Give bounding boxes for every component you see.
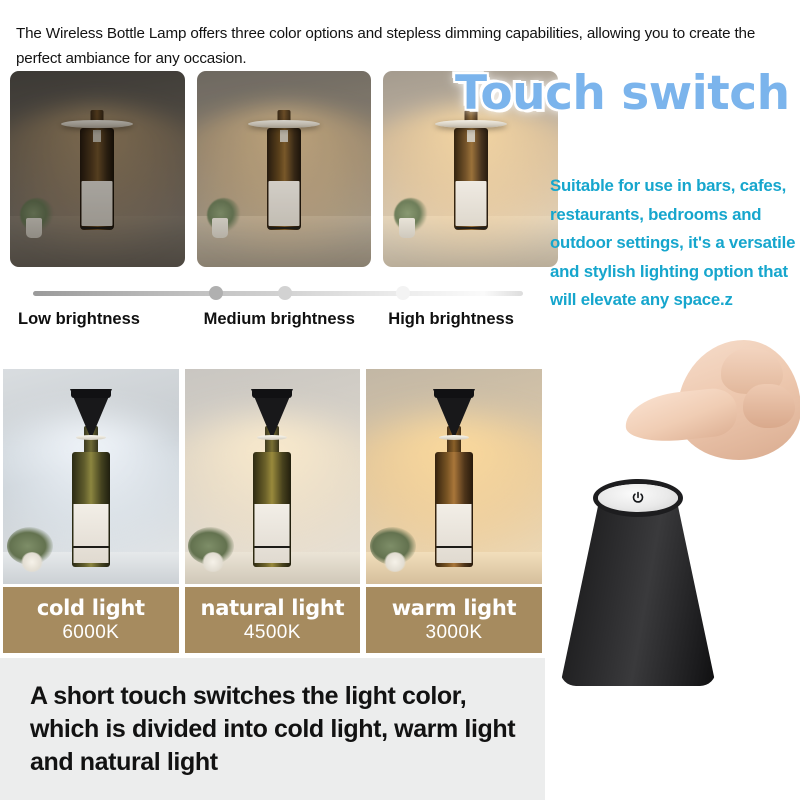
color-temperature-name: cold light xyxy=(37,596,145,621)
ct-bottle-label-stripe xyxy=(255,546,290,548)
ct-bottle-label-stripe xyxy=(73,546,108,548)
ct-scene-natural xyxy=(185,369,361,587)
brightness-slider-dot-high[interactable] xyxy=(396,286,410,300)
lamp-disc xyxy=(248,120,320,128)
scene-vase xyxy=(26,218,42,238)
brightness-slider-dot-medium[interactable] xyxy=(278,286,292,300)
brightness-photo-medium xyxy=(197,71,372,267)
ct-bottle-label xyxy=(255,504,290,563)
bottom-note-block: A short touch switches the light color, … xyxy=(0,658,545,800)
brightness-label-high: High brightness xyxy=(388,310,538,329)
color-temperature-photo-cold xyxy=(0,366,182,590)
hand-knuckle-lower xyxy=(743,384,795,428)
lamp-scene-medium xyxy=(197,71,372,267)
color-temperature-kelvin: 3000K xyxy=(426,621,483,645)
lamp-stem xyxy=(93,130,101,142)
lamp-shade-rim xyxy=(434,389,474,398)
color-temperature-caption-warm: warm light 3000K xyxy=(363,584,545,656)
color-temperature-caption-row: cold light 6000K natural light 4500K war… xyxy=(0,584,545,656)
lamp-shade-lip xyxy=(257,435,287,440)
lamp-base[interactable] xyxy=(560,480,716,686)
color-temperature-photo-natural xyxy=(182,366,364,590)
bottle-label xyxy=(82,181,113,226)
lamp-scene-low xyxy=(10,71,185,267)
lamp-stem xyxy=(467,130,475,142)
color-temperature-name: natural light xyxy=(201,596,345,621)
bottle-label-stripe xyxy=(455,227,486,229)
touch-base-photo xyxy=(545,340,800,700)
brightness-photo-low xyxy=(10,71,185,267)
color-temperature-caption-cold: cold light 6000K xyxy=(0,584,182,656)
bottle-label-stripe xyxy=(269,227,300,229)
color-temperature-caption-natural: natural light 4500K xyxy=(182,584,364,656)
intro-paragraph: The Wireless Bottle Lamp offers three co… xyxy=(16,21,786,71)
brightness-label-row: Low brightness Medium brightness High br… xyxy=(18,310,538,329)
lamp-shade-lip xyxy=(439,435,469,440)
lamp-shade-rim xyxy=(252,389,292,398)
scene-vase xyxy=(399,218,415,238)
lamp-touch-surface[interactable] xyxy=(598,484,678,512)
ct-scene-warm xyxy=(366,369,542,587)
lamp-shade-lip xyxy=(76,435,106,440)
ct-flower xyxy=(384,552,406,572)
color-temperature-kelvin: 6000K xyxy=(62,621,119,645)
ct-flower xyxy=(202,552,224,572)
color-temperature-photo-row xyxy=(0,366,545,590)
color-temperature-name: warm light xyxy=(392,596,517,621)
lamp-disc xyxy=(61,120,133,128)
bottom-note-text: A short touch switches the light color, … xyxy=(30,680,530,779)
ct-bottle-label xyxy=(436,504,471,563)
scene-vase xyxy=(212,218,228,238)
ct-bottle-label xyxy=(73,504,108,563)
power-icon xyxy=(631,491,646,506)
usage-description: Suitable for use in bars, cafes, restaur… xyxy=(550,172,800,315)
color-temperature-kelvin: 4500K xyxy=(244,621,301,645)
brightness-slider-dot-low[interactable] xyxy=(209,286,223,300)
lamp-stem xyxy=(280,130,288,142)
bottle-label xyxy=(455,181,486,226)
pointing-hand xyxy=(625,340,800,488)
ct-flower xyxy=(21,552,43,572)
color-temperature-photo-warm xyxy=(363,366,545,590)
ct-bottle-label-stripe xyxy=(436,546,471,548)
bottle-label xyxy=(269,181,300,226)
lamp-base-body xyxy=(560,494,716,686)
brightness-label-medium: Medium brightness xyxy=(204,310,389,329)
touch-switch-headline: Touch switch xyxy=(455,66,790,121)
lamp-shade-rim xyxy=(71,389,111,398)
brightness-slider[interactable] xyxy=(33,286,523,300)
lamp-disc xyxy=(435,120,507,128)
ct-scene-cold xyxy=(3,369,179,587)
brightness-label-low: Low brightness xyxy=(18,310,204,329)
bottle-label-stripe xyxy=(82,227,113,229)
